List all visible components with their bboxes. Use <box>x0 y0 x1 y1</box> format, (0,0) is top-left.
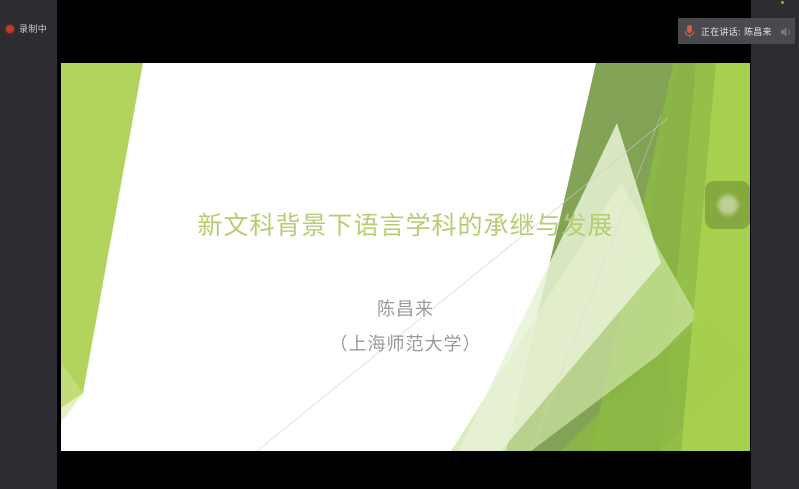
recording-label: 录制中 <box>19 22 47 35</box>
slide-author: 陈昌来 <box>61 295 750 321</box>
left-chrome-rail <box>0 0 57 489</box>
recording-indicator[interactable]: 录制中 <box>6 22 47 35</box>
speaker-icon <box>779 24 793 38</box>
right-chrome-rail <box>751 0 799 489</box>
shared-slide[interactable]: 新文科背景下语言学科的承继与发展 陈昌来 （上海师范大学） <box>61 63 750 451</box>
record-dot-icon <box>6 25 14 33</box>
slide-affiliation: （上海师范大学） <box>61 330 750 356</box>
status-dot-icon <box>781 1 784 4</box>
active-speaker-badge[interactable]: 正在讲话: 陈昌来 <box>678 18 795 44</box>
microphone-icon <box>684 24 695 39</box>
video-pip-dot-icon <box>718 195 738 215</box>
video-pip-indicator[interactable] <box>705 181 750 229</box>
slide-background-graphics <box>61 63 750 451</box>
active-speaker-label: 正在讲话: 陈昌来 <box>701 25 772 38</box>
slide-title: 新文科背景下语言学科的承继与发展 <box>61 206 750 242</box>
meeting-screen-share-window: 录制中 正在讲话: 陈昌来 <box>0 0 799 489</box>
